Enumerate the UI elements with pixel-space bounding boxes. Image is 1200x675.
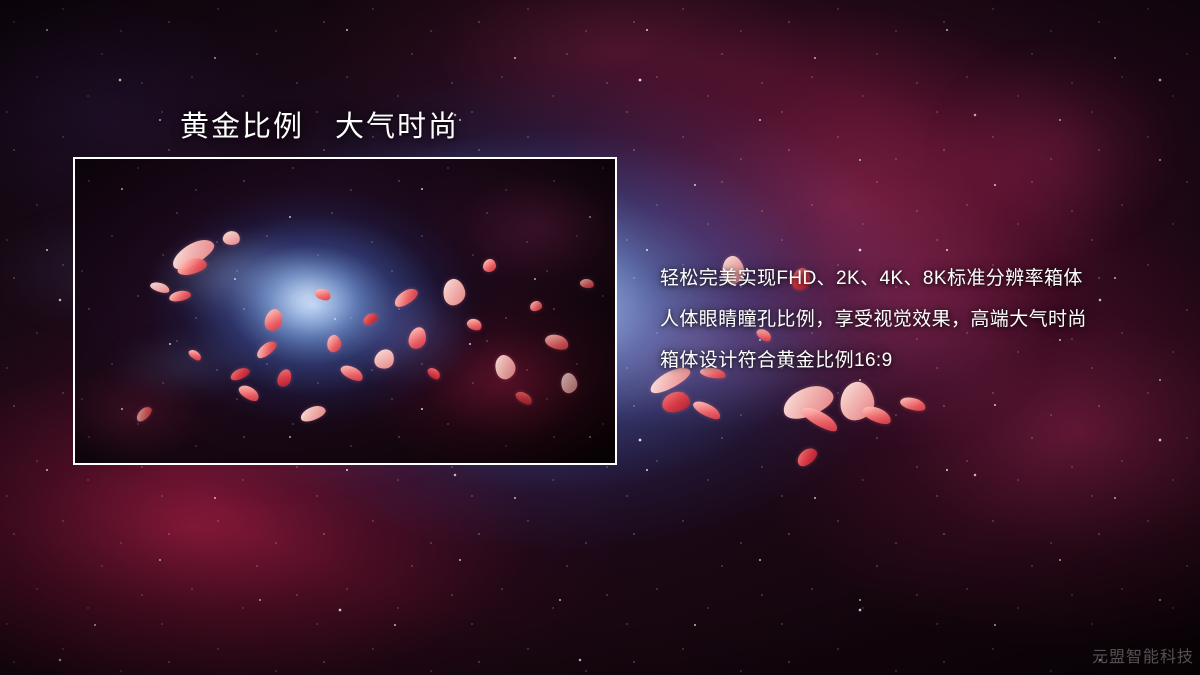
flower-petal [661, 391, 691, 414]
flower-petal [799, 402, 840, 435]
body-line: 箱体设计符合黄金比例16:9 [660, 340, 1180, 381]
slide-canvas: 黄金比例 大气时尚 轻松完美实现FHD、2K、4K、8K标准分辨率箱体 人体眼睛… [0, 0, 1200, 675]
frame-vignette [75, 159, 615, 463]
watermark: 元盟智能科技 [1092, 643, 1194, 667]
flower-petal [794, 445, 820, 469]
flower-petal [860, 402, 893, 428]
picture-frame-content [75, 159, 615, 463]
flower-petal [838, 380, 877, 422]
body-line: 人体眼睛瞳孔比例，享受视觉效果，高端大气时尚 [660, 299, 1180, 340]
body-text-block: 轻松完美实现FHD、2K、4K、8K标准分辨率箱体 人体眼睛瞳孔比例，享受视觉效… [660, 258, 1180, 381]
page-title: 黄金比例 大气时尚 [180, 103, 459, 145]
flower-petal [691, 397, 723, 422]
flower-petal [899, 394, 927, 413]
picture-frame [73, 157, 617, 465]
flower-petal [779, 381, 837, 424]
body-line: 轻松完美实现FHD、2K、4K、8K标准分辨率箱体 [660, 258, 1180, 299]
